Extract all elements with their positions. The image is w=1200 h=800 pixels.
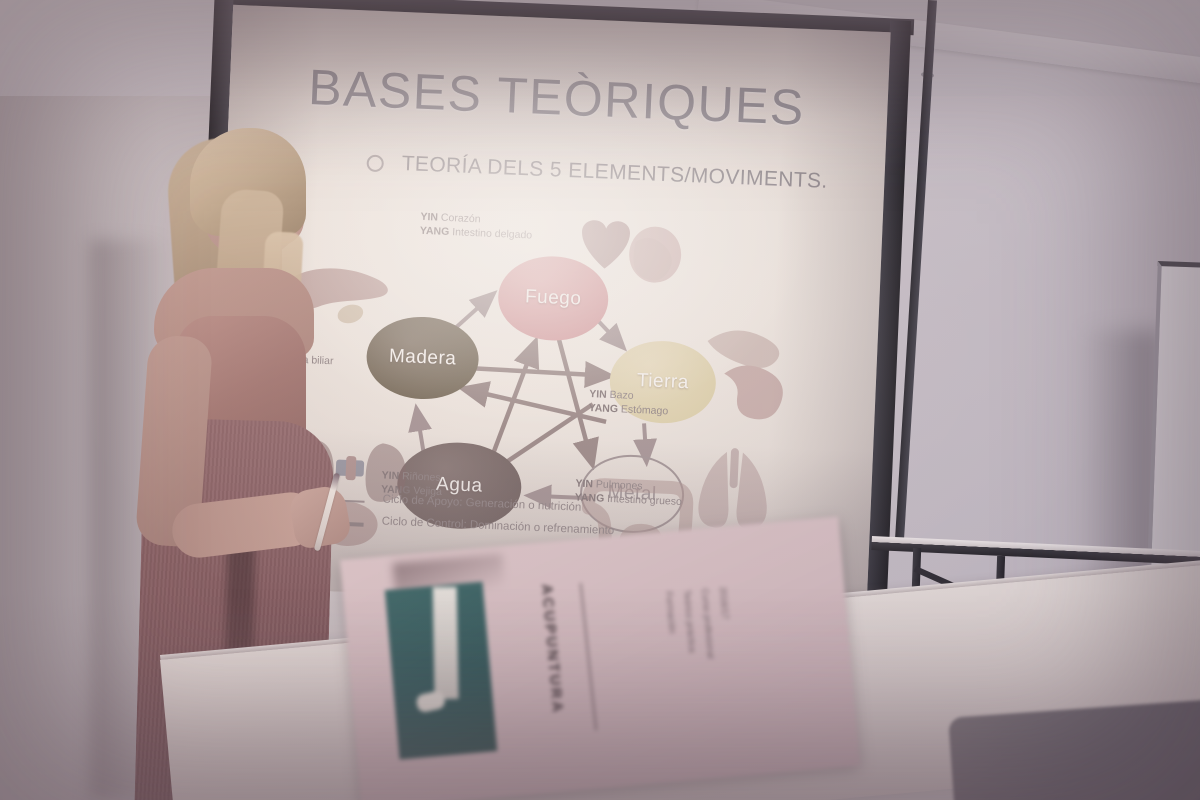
- heart-smallintestine-icon: [562, 209, 685, 294]
- booklet-photo-highlight: [433, 587, 459, 699]
- yin-organ: Pulmones: [596, 478, 643, 492]
- pancreas-stomach-icon: [696, 315, 811, 430]
- yin-organ: Corazón: [441, 212, 481, 226]
- fire-organ-label: YIN Corazón YANG Intestino delgado: [420, 211, 533, 243]
- acupuncture-booklet: ACUPUNTURA Formación Teórico práctica Cu…: [340, 516, 860, 800]
- yin-organ: Bazo: [609, 389, 633, 402]
- screenshot-root: BASES TEÒRIQUES TEORÍA DELS 5 ELEMENTS/M…: [0, 0, 1200, 800]
- yin-prefix: YIN: [575, 478, 593, 491]
- yang-organ: Estómago: [621, 403, 669, 417]
- yang-organ: Intestino delgado: [452, 226, 532, 241]
- yin-prefix: YIN: [420, 211, 438, 224]
- yang-prefix: YANG: [420, 224, 450, 237]
- yin-prefix: YIN: [589, 388, 607, 401]
- earth-organ-label: YIN Bazo YANG Estómago: [588, 388, 669, 418]
- slide-bullet-label: TEORÍA DELS 5 ELEMENTS/MOVIMENTS.: [401, 152, 828, 194]
- element-label-agua: Agua: [436, 474, 483, 498]
- slide-bullet: TEORÍA DELS 5 ELEMENTS/MOVIMENTS.: [366, 151, 887, 197]
- element-label-fuego: Fuego: [525, 286, 582, 310]
- yang-prefix: YANG: [588, 402, 618, 415]
